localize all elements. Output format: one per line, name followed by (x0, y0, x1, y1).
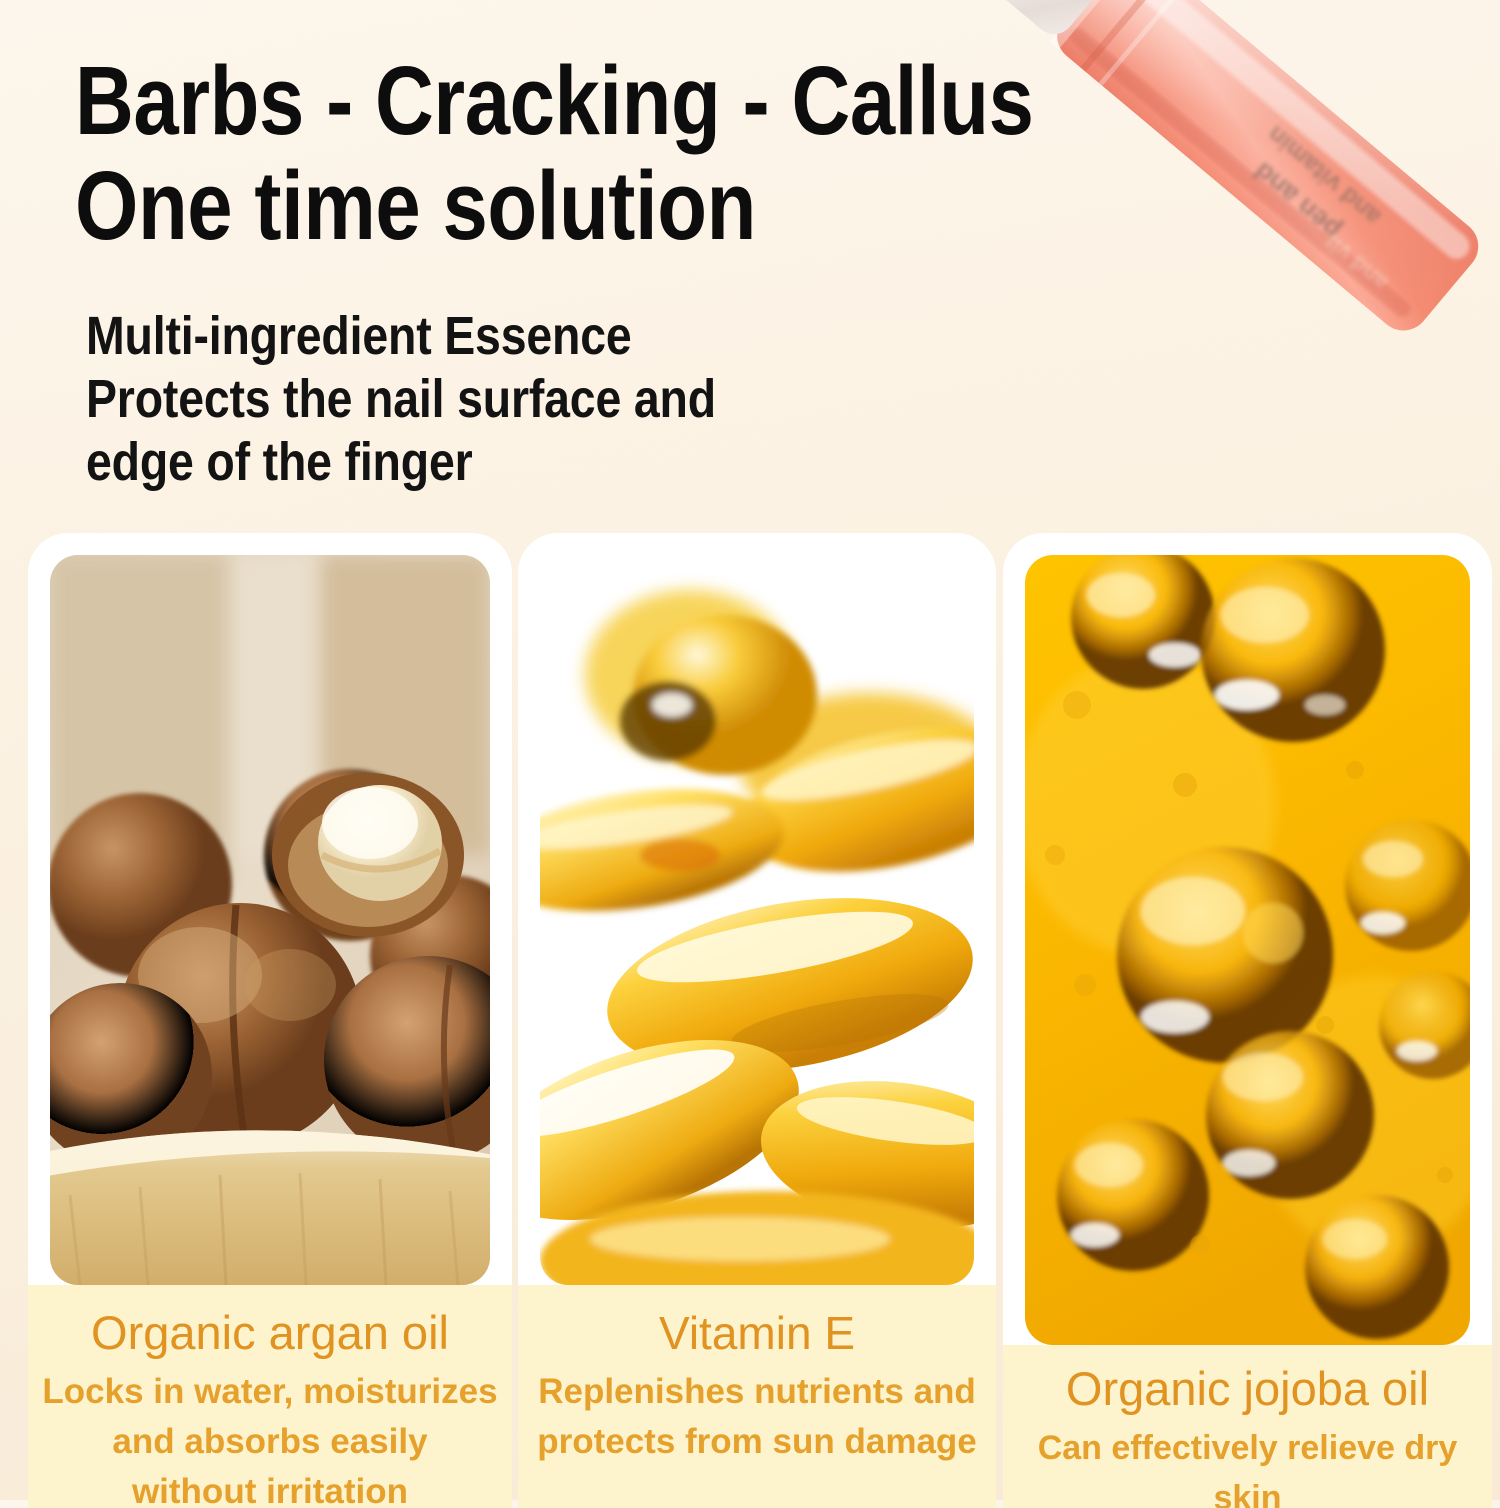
caption-argan-oil: Organic argan oil Locks in water, moistu… (28, 1285, 512, 1508)
caption-body-line: protects from sun damage (528, 1417, 986, 1467)
subheadline-line-1: Multi-ingredient Essence (86, 305, 740, 368)
product-infographic: Barbs - Cracking - Callus One time solut… (0, 0, 1500, 1500)
caption-jojoba-oil: Organic jojoba oil Can effectively relie… (1003, 1345, 1492, 1508)
caption-body-line: and absorbs easily (38, 1417, 502, 1467)
caption-title: Organic argan oil (38, 1303, 502, 1363)
ingredient-card-jojoba-oil[interactable]: Organic jojoba oil Can effectively relie… (1003, 533, 1492, 1508)
macadamia-nuts-in-wooden-bowl-image (50, 555, 490, 1285)
product-image-cuticle-oil-pen: pen and and vitamin and vit (820, 0, 1500, 500)
caption-vitamin-e: Vitamin E Replenishes nutrients and prot… (518, 1285, 996, 1508)
caption-body-line: Locks in water, moisturizes (38, 1367, 502, 1417)
caption-body-line: without irritation (38, 1467, 502, 1508)
subheadline-line-2: Protects the nail surface and (86, 368, 740, 431)
caption-body: Locks in water, moisturizes and absorbs … (38, 1367, 502, 1508)
caption-body: Replenishes nutrients and protects from … (528, 1367, 986, 1467)
subheadline-block: Multi-ingredient Essence Protects the na… (86, 305, 846, 494)
caption-title: Organic jojoba oil (1013, 1359, 1482, 1419)
ingredient-cards: Organic argan oil Locks in water, moistu… (0, 533, 1500, 1508)
caption-title: Vitamin E (528, 1303, 986, 1363)
vitamin-e-softgel-capsules-image (540, 555, 974, 1285)
caption-body-line: Replenishes nutrients and (528, 1367, 986, 1417)
golden-jojoba-oil-bubbles-image (1025, 555, 1470, 1345)
caption-body: Can effectively relieve dry skin (1013, 1423, 1482, 1508)
ingredient-card-vitamin-e[interactable]: Vitamin E Replenishes nutrients and prot… (518, 533, 996, 1508)
ingredient-card-argan-oil[interactable]: Organic argan oil Locks in water, moistu… (28, 533, 512, 1508)
caption-body-line: Can effectively relieve dry skin (1013, 1423, 1482, 1508)
cuticle-oil-pen-illustration: pen and and vitamin and vit (820, 0, 1500, 500)
subheadline-line-3: edge of the finger (86, 431, 740, 494)
